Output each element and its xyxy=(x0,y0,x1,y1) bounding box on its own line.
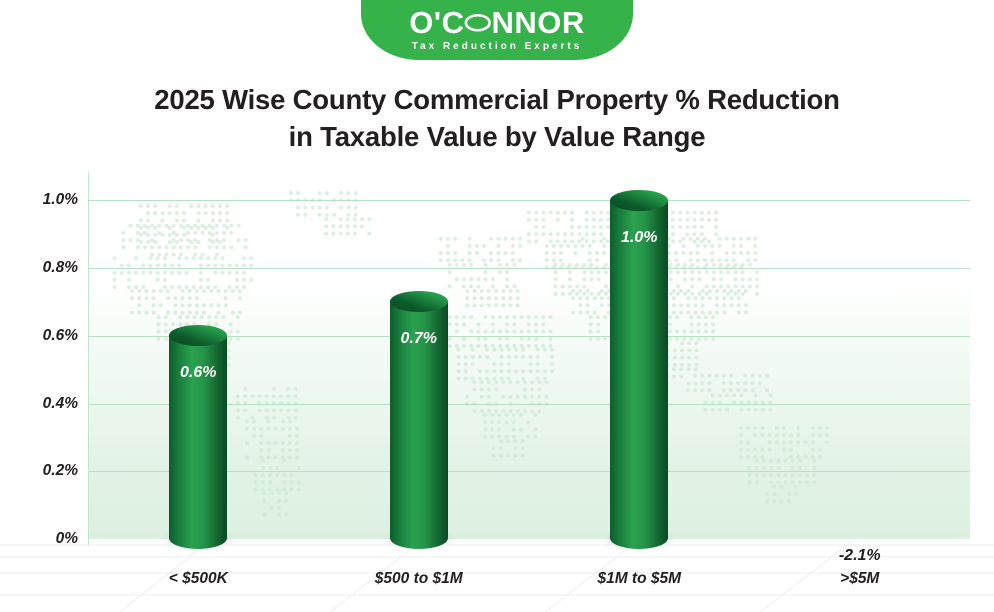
x-axis-tick-label: $500 to $1M xyxy=(375,570,463,588)
y-axis-tick-labels: 0%0.2%0.4%0.6%0.8%1.0% xyxy=(0,168,78,612)
bar-cylinder[interactable]: 0.6% xyxy=(169,325,227,549)
y-axis-tick-label: 0.2% xyxy=(6,462,78,480)
bar-cylinder[interactable]: 1.0% xyxy=(610,190,668,550)
chart-page: O'C⬭NNOR Tax Reduction Experts 2025 Wise… xyxy=(0,0,994,612)
x-axis-tick-label: < $500K xyxy=(169,570,228,588)
bar-top-ellipse xyxy=(169,325,227,346)
oconnor-logo-banner: O'C⬭NNOR Tax Reduction Experts xyxy=(361,0,633,60)
y-axis-line xyxy=(88,172,89,546)
y-axis-tick-label: 0% xyxy=(6,530,78,548)
bar-value-label-negative: -2.1% xyxy=(800,547,920,565)
x-axis-tick-label: $1M to $5M xyxy=(597,570,681,588)
gridline xyxy=(88,200,970,201)
bar-value-label: 0.6% xyxy=(169,364,227,382)
bar-value-label: 0.7% xyxy=(390,330,448,348)
bar-top-ellipse xyxy=(610,190,668,211)
plot-wrapper: 0%0.2%0.4%0.6%0.8%1.0% 0.6%0.7%1.0%-2.1%… xyxy=(0,168,994,612)
gridline xyxy=(88,268,970,269)
chart-title: 2025 Wise County Commercial Property % R… xyxy=(0,82,994,155)
y-axis-tick-label: 0.6% xyxy=(6,327,78,345)
bar-body xyxy=(610,200,668,549)
y-axis-tick-label: 1.0% xyxy=(6,191,78,209)
y-axis-tick-label: 0.4% xyxy=(6,395,78,413)
chart-title-line-1: 2025 Wise County Commercial Property % R… xyxy=(0,82,994,119)
chart-title-line-2: in Taxable Value by Value Range xyxy=(0,119,994,156)
y-axis-tick-label: 0.8% xyxy=(6,259,78,277)
bar-cylinder[interactable]: 0.7% xyxy=(390,291,448,549)
bar-top-ellipse xyxy=(390,291,448,312)
logo-wordmark: O'C⬭NNOR xyxy=(361,7,633,38)
logo-tagline: Tax Reduction Experts xyxy=(361,42,633,52)
bar-value-label: 1.0% xyxy=(610,229,668,247)
x-axis-tick-label: >$5M xyxy=(840,570,879,588)
